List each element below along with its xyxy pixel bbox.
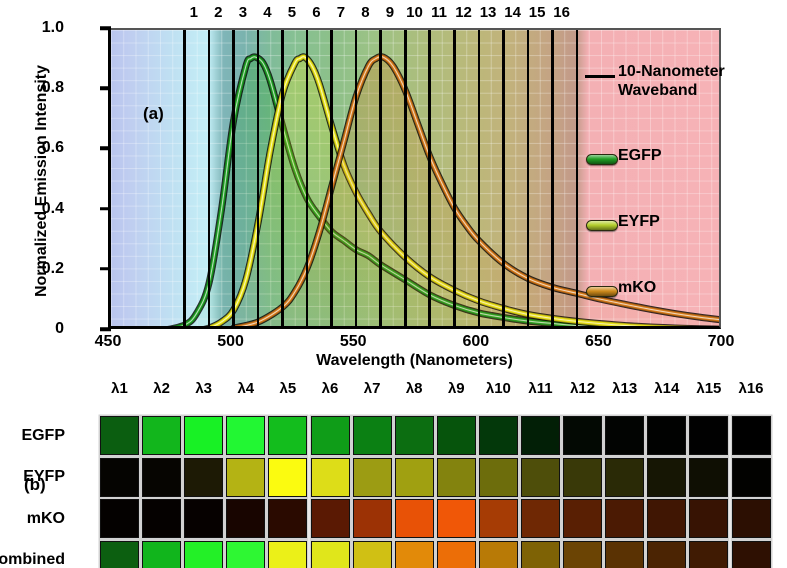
swatch[interactable] (142, 541, 181, 568)
swatch[interactable] (689, 499, 728, 538)
lambda-header: λ10 (477, 380, 519, 397)
lambda-header: λ1 (99, 380, 141, 397)
swatch[interactable] (311, 416, 350, 455)
swatch[interactable] (479, 458, 518, 497)
swatch[interactable] (311, 458, 350, 497)
lambda-header: λ12 (562, 380, 604, 397)
swatch[interactable] (563, 541, 602, 568)
lambda-header: λ8 (393, 380, 435, 397)
swatch[interactable] (142, 458, 181, 497)
swatch[interactable] (226, 458, 265, 497)
swatch[interactable] (353, 499, 392, 538)
swatch[interactable] (311, 499, 350, 538)
swatch[interactable] (689, 458, 728, 497)
swatch[interactable] (732, 458, 771, 497)
panel-a-emission-spectra: Normalized Emission Intensity 00.20.40.6… (0, 0, 787, 372)
waveband-divider (527, 30, 530, 326)
swatch[interactable] (563, 416, 602, 455)
swatch[interactable] (647, 416, 686, 455)
swatch[interactable] (184, 499, 223, 538)
swatch[interactable] (521, 499, 560, 538)
lambda-header: λ11 (520, 380, 562, 397)
swatch[interactable] (732, 416, 771, 455)
y-tick-mark (100, 147, 111, 151)
x-tick-label: 700 (691, 333, 751, 351)
y-tick-label: 0.6 (24, 139, 64, 157)
swatch[interactable] (311, 541, 350, 568)
swatch[interactable] (689, 416, 728, 455)
swatch[interactable] (605, 499, 644, 538)
y-tick-mark (100, 86, 111, 90)
swatch[interactable] (521, 458, 560, 497)
x-tick-label: 500 (201, 333, 261, 351)
lambda-header: λ9 (435, 380, 477, 397)
swatch[interactable] (437, 541, 476, 568)
lambda-header: λ4 (225, 380, 267, 397)
swatch[interactable] (395, 416, 434, 455)
lambda-header: λ14 (646, 380, 688, 397)
panel-a-label: (a) (143, 104, 164, 124)
swatch[interactable] (437, 458, 476, 497)
y-tick-label: 0.2 (24, 260, 64, 278)
swatch[interactable] (521, 541, 560, 568)
swatch[interactable] (142, 416, 181, 455)
waveband-tick-icon (585, 75, 615, 78)
swatch[interactable] (605, 541, 644, 568)
swatch[interactable] (395, 458, 434, 497)
swatch[interactable] (563, 458, 602, 497)
row-label-eyfp: EYFP (0, 468, 65, 486)
swatch[interactable] (268, 499, 307, 538)
swatch[interactable] (353, 416, 392, 455)
legend: 10-Nanometer Waveband EGFPEYFPmKO (564, 66, 774, 304)
row-label-egfp: EGFP (0, 427, 65, 445)
lambda-header: λ13 (604, 380, 646, 397)
waveband-divider (453, 30, 456, 326)
swatch[interactable] (226, 499, 265, 538)
legend-waveband-note: 10-Nanometer Waveband (564, 66, 774, 106)
swatch[interactable] (732, 541, 771, 568)
swatch[interactable] (268, 458, 307, 497)
swatch[interactable] (184, 541, 223, 568)
swatch[interactable] (521, 416, 560, 455)
y-tick-label: 1.0 (24, 19, 64, 37)
x-tick-label: 550 (323, 333, 383, 351)
legend-item-mko[interactable]: mKO (564, 282, 774, 304)
panel-b-waveband-swatches: (b) λ1λ2λ3λ4λ5λ6λ7λ8λ9λ10λ11λ12λ13λ14λ15… (0, 372, 787, 568)
y-tick-mark (100, 267, 111, 271)
swatch[interactable] (268, 416, 307, 455)
swatch[interactable] (395, 541, 434, 568)
x-axis-title: Wavelength (Nanometers) (108, 352, 721, 370)
legend-waveband-label: 10-Nanometer Waveband (618, 62, 725, 100)
swatch[interactable] (184, 416, 223, 455)
y-tick-mark (100, 207, 111, 211)
legend-label: mKO (618, 278, 656, 297)
swatch[interactable] (479, 499, 518, 538)
swatch[interactable] (353, 541, 392, 568)
swatch[interactable] (100, 499, 139, 538)
swatch[interactable] (689, 541, 728, 568)
lambda-header: λ2 (141, 380, 183, 397)
swatch[interactable] (100, 458, 139, 497)
legend-swatch-eyfp (586, 220, 618, 231)
x-tick-label: 650 (568, 333, 628, 351)
y-tick-label: 0.4 (24, 200, 64, 218)
legend-item-eyfp[interactable]: EYFP (564, 216, 774, 238)
waveband-divider (355, 30, 358, 326)
swatch[interactable] (732, 499, 771, 538)
legend-swatch-mko (586, 286, 618, 297)
swatch[interactable] (647, 458, 686, 497)
swatch[interactable] (353, 458, 392, 497)
waveband-divider (208, 30, 211, 326)
lambda-header: λ3 (183, 380, 225, 397)
y-tick-mark (100, 327, 111, 331)
waveband-divider (257, 30, 260, 326)
swatch[interactable] (226, 541, 265, 568)
swatch[interactable] (184, 458, 223, 497)
swatch[interactable] (142, 499, 181, 538)
swatch[interactable] (226, 416, 265, 455)
swatch[interactable] (479, 416, 518, 455)
y-tick-mark (100, 26, 111, 30)
waveband-divider (551, 30, 554, 326)
lambda-header: λ16 (730, 380, 772, 397)
x-tick-label: 450 (78, 333, 138, 351)
swatch[interactable] (647, 541, 686, 568)
swatch[interactable] (100, 541, 139, 568)
waveband-divider (428, 30, 431, 326)
waveband-divider (404, 30, 407, 326)
swatch[interactable] (605, 458, 644, 497)
legend-swatch-egfp (586, 154, 618, 165)
waveband-divider (502, 30, 505, 326)
y-tick-label: 0.8 (24, 79, 64, 97)
swatch[interactable] (268, 541, 307, 568)
swatch[interactable] (563, 499, 602, 538)
waveband-divider (306, 30, 309, 326)
swatch[interactable] (479, 541, 518, 568)
row-label-mko: mKO (0, 510, 65, 528)
swatch[interactable] (605, 416, 644, 455)
legend-label: EYFP (618, 212, 660, 231)
x-tick-label: 600 (446, 333, 506, 351)
lambda-header: λ15 (688, 380, 730, 397)
waveband-divider (379, 30, 382, 326)
legend-label: EGFP (618, 146, 662, 165)
waveband-divider (232, 30, 235, 326)
lambda-header: λ5 (267, 380, 309, 397)
row-label-combined: Combined (0, 551, 65, 568)
y-tick-label: 0 (24, 320, 64, 338)
swatch[interactable] (395, 499, 434, 538)
swatch[interactable] (647, 499, 686, 538)
waveband-number: 16 (547, 4, 577, 21)
waveband-divider (330, 30, 333, 326)
lambda-header: λ7 (351, 380, 393, 397)
legend-item-egfp[interactable]: EGFP (564, 150, 774, 172)
waveband-divider (183, 30, 186, 326)
waveband-divider (281, 30, 284, 326)
waveband-divider (478, 30, 481, 326)
swatch[interactable] (437, 499, 476, 538)
swatch[interactable] (100, 416, 139, 455)
swatch[interactable] (437, 416, 476, 455)
lambda-header: λ6 (309, 380, 351, 397)
